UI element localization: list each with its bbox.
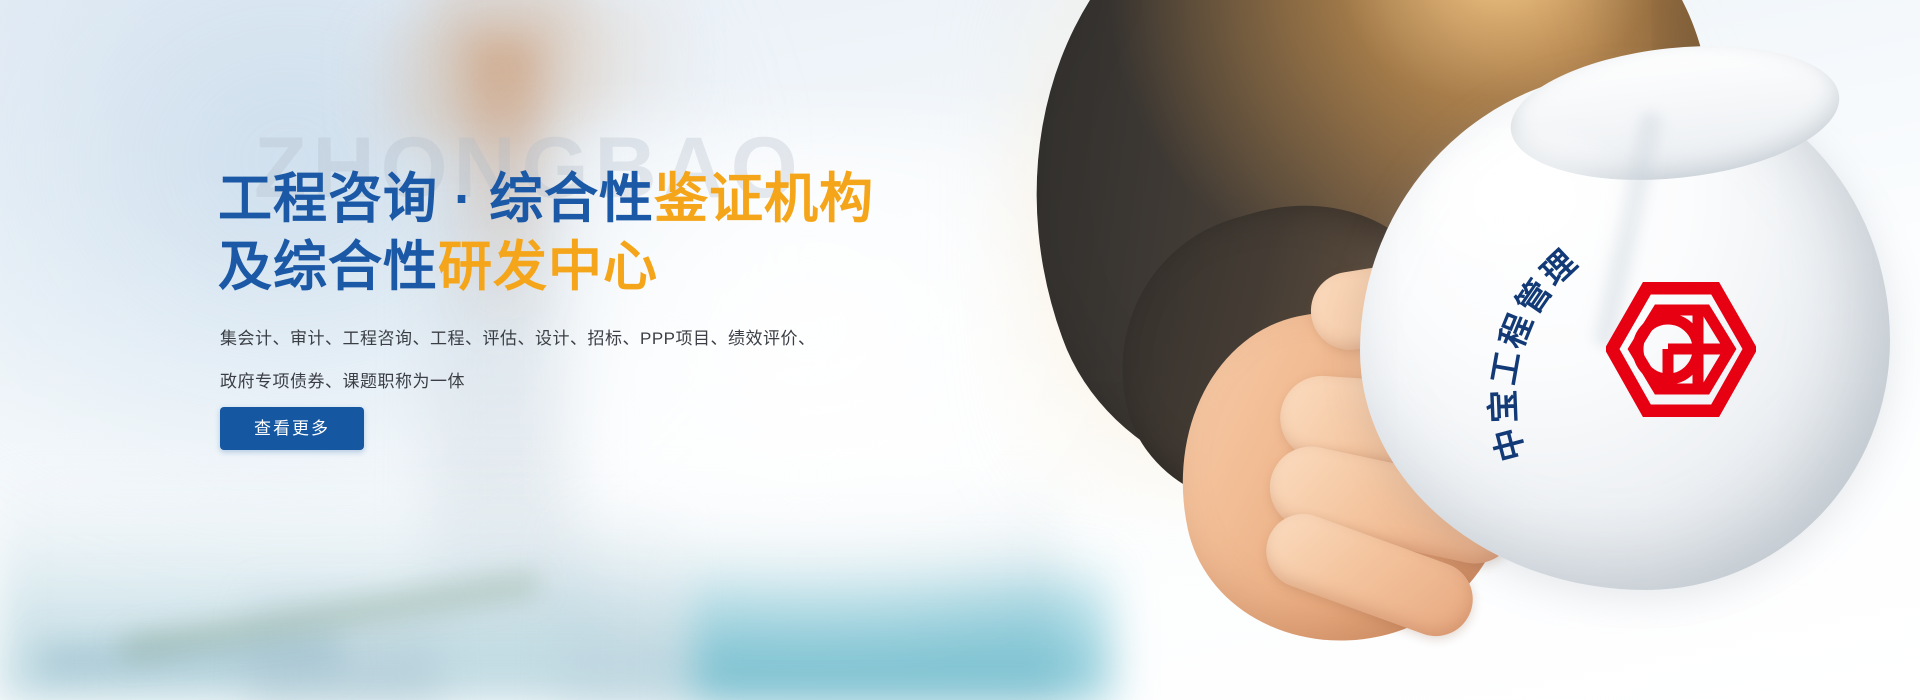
headline-line-2: 及综合性研发中心 [218, 233, 978, 301]
headline-line-2-primary: 及综合性 [218, 237, 438, 297]
page-title: 工程咨询 · 综合性鉴证机构 及综合性研发中心 [218, 165, 978, 301]
description-line-1: 集会计、审计、工程咨询、工程、评估、设计、招标、PPP项目、绩效评价、 [220, 317, 860, 360]
hero-description: 集会计、审计、工程咨询、工程、评估、设计、招标、PPP项目、绩效评价、 政府专项… [220, 317, 860, 404]
headline-line-1-accent: 鉴证机构 [654, 169, 874, 229]
description-line-2: 政府专项债券、课题职称为一体 [220, 360, 860, 403]
zhongbao-hexagon-logo [1606, 282, 1756, 417]
headline-line-2-accent: 研发中心 [438, 237, 658, 297]
headline-line-1-primary: 工程咨询 · 综合性 [218, 169, 654, 229]
hard-hat: 中宝工程管理 [1360, 70, 1920, 630]
hero-banner: 中宝工程管理 ZHONGBAO [0, 0, 1920, 700]
headline-line-1: 工程咨询 · 综合性鉴证机构 [218, 165, 978, 233]
view-more-button[interactable]: 查看更多 [220, 407, 364, 450]
hero-photo: 中宝工程管理 [820, 0, 1920, 700]
hero-copy: ZHONGBAO 工程咨询 · 综合性鉴证机构 及综合性研发中心 集会计、审计、… [218, 115, 978, 301]
